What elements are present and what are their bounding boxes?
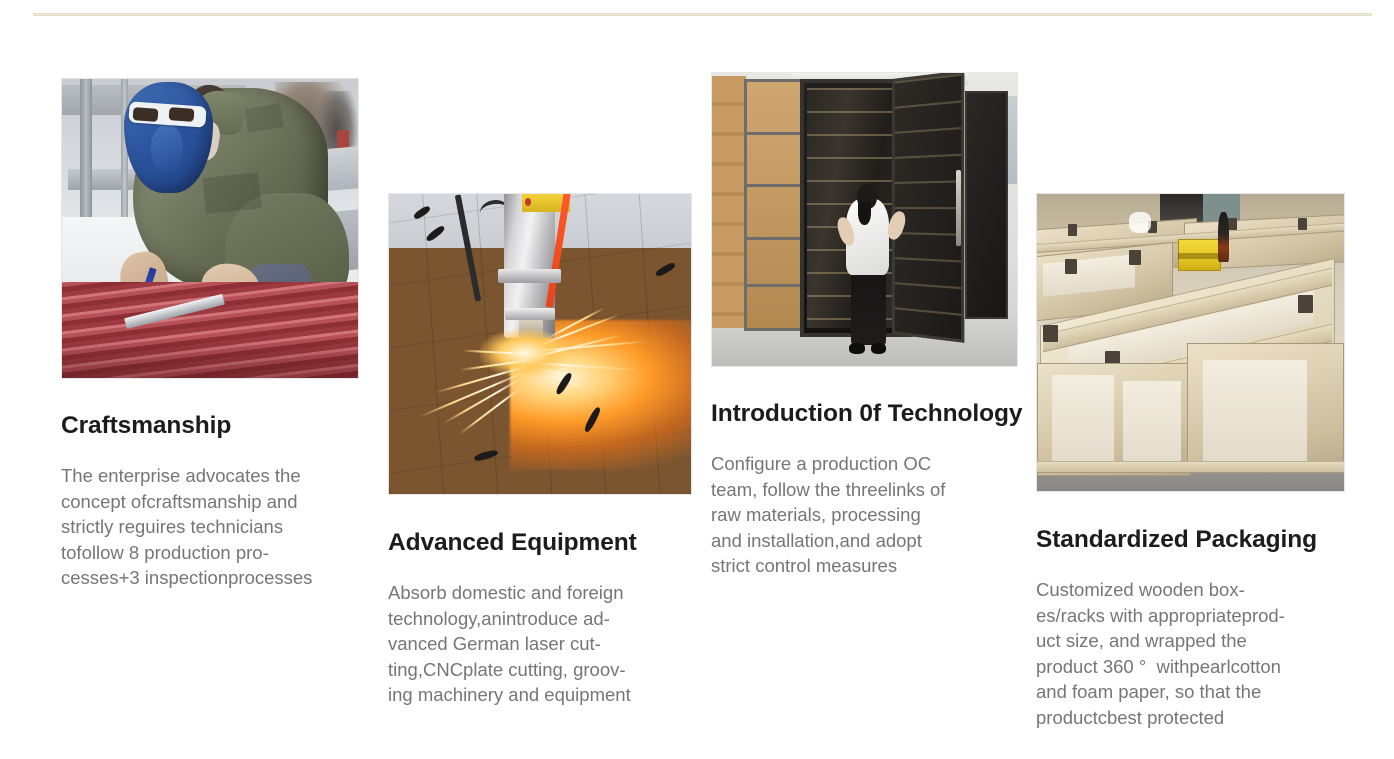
- body-line: Customized wooden box-: [1036, 577, 1346, 603]
- body-line: and installation,and adopt: [711, 528, 1021, 554]
- introduction-of-technology-photo: [711, 72, 1018, 367]
- body-line: cesses+3 inspectionprocesses: [61, 565, 361, 591]
- advanced-equipment-photo-scene: [389, 194, 691, 494]
- body-line: ing machinery and equipment: [388, 682, 693, 708]
- craftsmanship-photo-scene: [62, 79, 358, 378]
- body-line: es/racks with appropriateprod-: [1036, 603, 1346, 629]
- body-line: and foam paper, so that the: [1036, 679, 1346, 705]
- body-line: uct size, and wrapped the: [1036, 628, 1346, 654]
- craftsmanship-photo: [61, 78, 359, 379]
- body-line: strict control measures: [711, 553, 1021, 579]
- body-line: productcbest protected: [1036, 705, 1346, 731]
- column-body: Customized wooden box-es/racks with appr…: [1036, 577, 1346, 730]
- body-line: team, follow the threelinks of: [711, 477, 1021, 503]
- top-divider-rule: [33, 13, 1372, 16]
- body-line: technology,anintroduce ad-: [388, 606, 693, 632]
- slide-root: Craftsmanship The enterprise advocates t…: [0, 0, 1394, 759]
- column-heading: Craftsmanship: [61, 412, 361, 440]
- standardized-packaging-photo-scene: [1037, 194, 1344, 491]
- body-line: concept ofcraftsmanship and: [61, 489, 361, 515]
- body-line: strictly reguires technicians: [61, 514, 361, 540]
- column-heading: Standardized Packaging: [1036, 526, 1346, 554]
- body-line: product 360 ° withpearlcotton: [1036, 654, 1346, 680]
- introduction-of-technology-photo-scene: [712, 73, 1017, 366]
- standardized-packaging-photo: [1036, 193, 1345, 492]
- body-line: tofollow 8 production pro-: [61, 540, 361, 566]
- body-line: Configure a production OC: [711, 451, 1021, 477]
- column-heading: Advanced Equipment: [388, 529, 693, 557]
- feature-column-advanced-equipment: Advanced Equipment Absorb domestic and f…: [388, 193, 693, 708]
- feature-column-craftsmanship: Craftsmanship The enterprise advocates t…: [61, 78, 361, 591]
- feature-column-introduction-of-technology: Introduction 0f Technology Configure a p…: [711, 72, 1021, 579]
- column-heading: Introduction 0f Technology: [711, 400, 1021, 428]
- body-line: raw materials, processing: [711, 502, 1021, 528]
- body-line: ting,CNCplate cutting, groov-: [388, 657, 693, 683]
- body-line: Absorb domestic and foreign: [388, 580, 693, 606]
- advanced-equipment-photo: [388, 193, 692, 495]
- body-line: vanced German laser cut-: [388, 631, 693, 657]
- feature-column-standardized-packaging: Standardized Packaging Customized wooden…: [1036, 193, 1346, 730]
- column-body: Configure a production OCteam, follow th…: [711, 451, 1021, 579]
- column-body: The enterprise advocates theconcept ofcr…: [61, 463, 361, 591]
- column-body: Absorb domestic and foreigntechnology,an…: [388, 580, 693, 708]
- body-line: The enterprise advocates the: [61, 463, 361, 489]
